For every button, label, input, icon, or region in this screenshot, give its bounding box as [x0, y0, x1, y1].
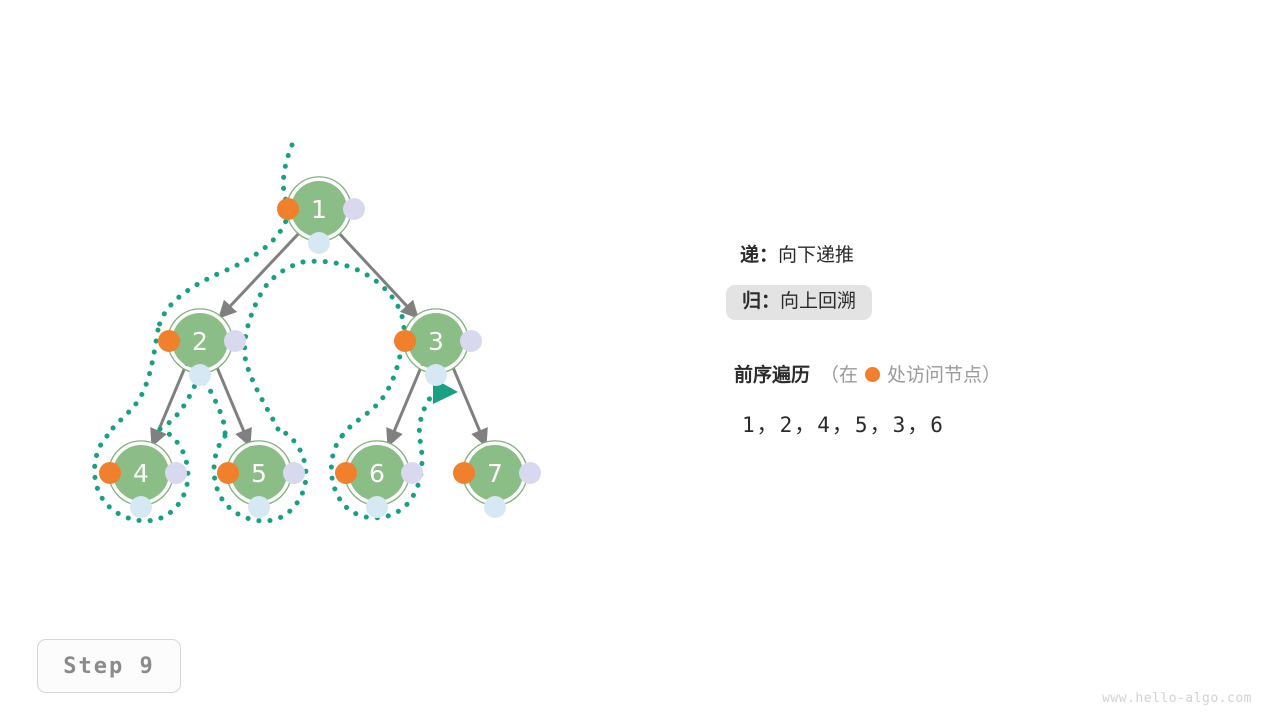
node-visit-dot [217, 462, 239, 484]
watermark: www.hello-algo.com [1102, 691, 1252, 706]
trace-segment-1-to-3 [303, 261, 404, 335]
step-badge-label: Step 9 [63, 654, 154, 679]
edge-2-5 [216, 365, 250, 446]
trace-segment-3-to-6 [342, 335, 404, 436]
trace-segment-4-to-5 [160, 382, 225, 436]
traversal-note-open: （在 [820, 360, 858, 387]
trace-segment-5-to-1 [245, 262, 303, 429]
node-bottom-dot [484, 496, 506, 518]
node-value-label: 3 [428, 327, 444, 356]
node-bottom-dot [366, 496, 388, 518]
node-visit-dot [335, 462, 357, 484]
node-value-label: 1 [311, 195, 327, 224]
node-value-label: 7 [487, 459, 503, 488]
legend-chip-backtrack: 归： 向上回溯 [726, 285, 872, 320]
tree-node-4[interactable]: 4 [99, 441, 187, 518]
node-right-dot [165, 462, 187, 484]
node-right-dot [460, 330, 482, 352]
trace-segment-2-to-4 [107, 330, 158, 436]
node-right-dot [283, 462, 305, 484]
node-right-dot [401, 462, 423, 484]
node-bottom-dot [308, 232, 330, 254]
traversal-sequence: 1，2，4，5，3，6 [742, 409, 1254, 439]
node-value-label: 4 [133, 459, 149, 488]
traversal-block: 前序遍历 （在 处访问节点） 1，2，4，5，3，6 [734, 360, 1254, 439]
watermark-text: www.hello-algo.com [1102, 691, 1252, 706]
traversal-title: 前序遍历 [734, 360, 810, 387]
illustration-canvas: 1 2 3 4 [0, 0, 1280, 720]
legend-panel: 递： 向下递推 归： 向上回溯 [726, 234, 1246, 326]
node-right-dot [343, 198, 365, 220]
tree-node-7[interactable]: 7 [453, 441, 541, 518]
node-value-label: 2 [192, 327, 208, 356]
traversal-note-close: 处访问节点） [887, 360, 1001, 387]
node-bottom-dot [189, 364, 211, 386]
edge-3-7 [452, 365, 486, 446]
edge-1-2 [219, 231, 301, 318]
step-badge: Step 9 [37, 639, 181, 693]
legend-key-backtrack: 归： [742, 292, 780, 311]
node-right-dot [224, 330, 246, 352]
node-visit-dot [99, 462, 121, 484]
edge-1-3 [337, 231, 418, 318]
node-visit-dot [158, 330, 180, 352]
node-bottom-dot [130, 496, 152, 518]
legend-value-backtrack: 向上回溯 [780, 292, 856, 311]
legend-chip-recurse: 递： 向下递推 [726, 239, 870, 274]
tree-node-3[interactable]: 3 [394, 309, 482, 386]
node-visit-dot [277, 198, 299, 220]
legend-row-backtrack: 归： 向上回溯 [726, 280, 1246, 324]
legend-key-recurse: 递： [740, 246, 778, 265]
visit-marker-dot-icon [865, 367, 880, 382]
node-value-label: 6 [369, 459, 385, 488]
node-visit-dot [453, 462, 475, 484]
node-value-label: 5 [251, 459, 267, 488]
tree-node-2[interactable]: 2 [158, 309, 246, 386]
node-bottom-dot [425, 364, 447, 386]
legend-value-recurse: 向下递推 [778, 246, 854, 265]
node-right-dot [519, 462, 541, 484]
node-visit-dot [394, 330, 416, 352]
traversal-title-row: 前序遍历 （在 处访问节点） [734, 360, 1254, 387]
node-bottom-dot [248, 496, 270, 518]
legend-row-recurse: 递： 向下递推 [726, 234, 1246, 278]
